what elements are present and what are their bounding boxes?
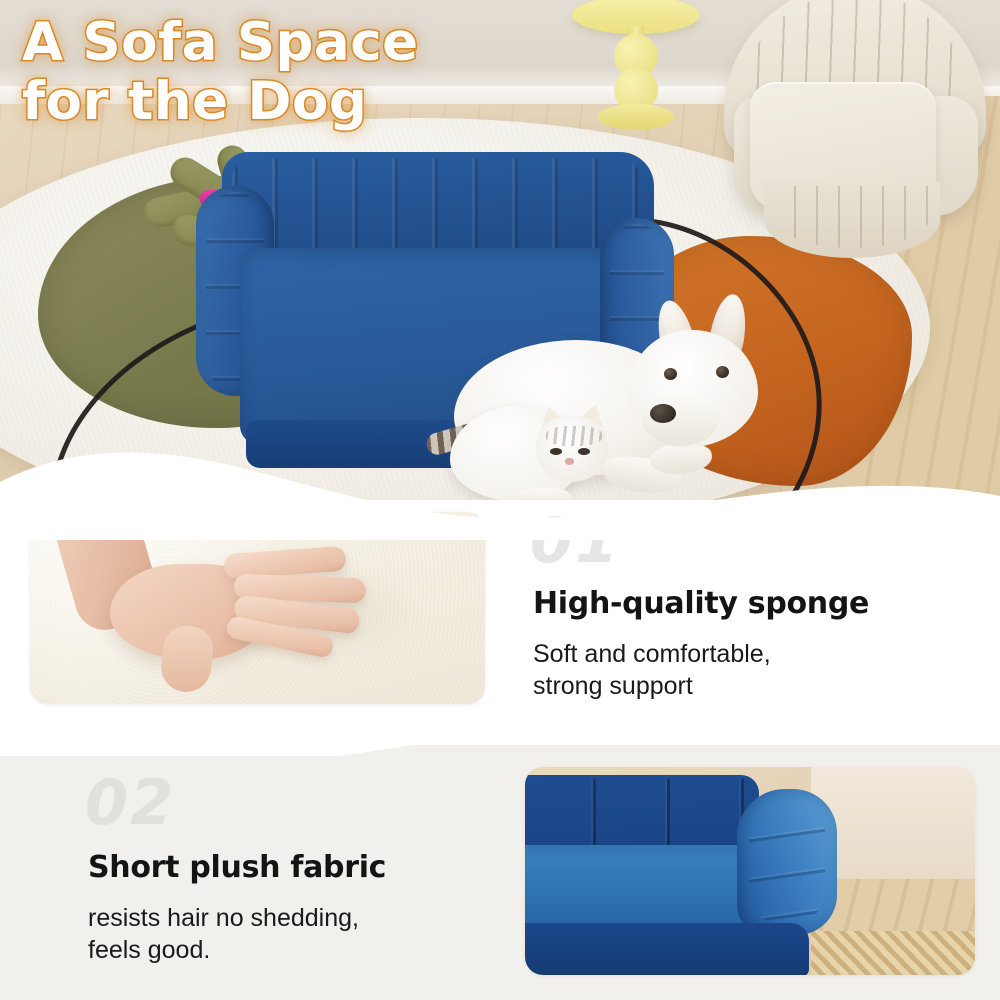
product-feature-page: A Sofa Space for the Dog 01 High-quality… (0, 0, 1000, 1000)
memory-foam-image (30, 512, 485, 704)
feature-body-02: resists hair no shedding, feels good. (88, 902, 359, 966)
hero-title-line-1: A Sofa Space (22, 14, 419, 71)
chair-base (764, 182, 940, 258)
feature-body-02-line-1: resists hair no shedding, (88, 902, 359, 934)
accent-chair (716, 0, 992, 260)
feature-body-02-line-2: feels good. (88, 934, 359, 966)
velvet-fabric-image (525, 767, 975, 975)
dog-eye (716, 366, 729, 378)
dog-nose (650, 404, 676, 423)
wave-divider-top (0, 430, 1000, 540)
hero-title: A Sofa Space for the Dog (22, 14, 419, 130)
table-base (598, 104, 674, 130)
feature-number-02: 02 (85, 772, 175, 834)
dog-eye (664, 368, 677, 380)
hero-title-line-2: for the Dog (22, 73, 419, 130)
fabric-sofa-armrest (737, 789, 837, 935)
feature-heading-01: High-quality sponge (533, 586, 869, 621)
hand (58, 512, 388, 704)
fabric-sofa-base (525, 923, 809, 975)
feature-heading-02: Short plush fabric (88, 850, 386, 885)
side-table (572, 0, 700, 142)
feature-body-01: Soft and comfortable, strong support (533, 638, 771, 702)
fabric-bg-woven-basket (811, 931, 975, 975)
feature-body-01-line-1: Soft and comfortable, (533, 638, 771, 670)
thumb (159, 624, 216, 695)
feature-body-01-line-2: strong support (533, 670, 771, 702)
